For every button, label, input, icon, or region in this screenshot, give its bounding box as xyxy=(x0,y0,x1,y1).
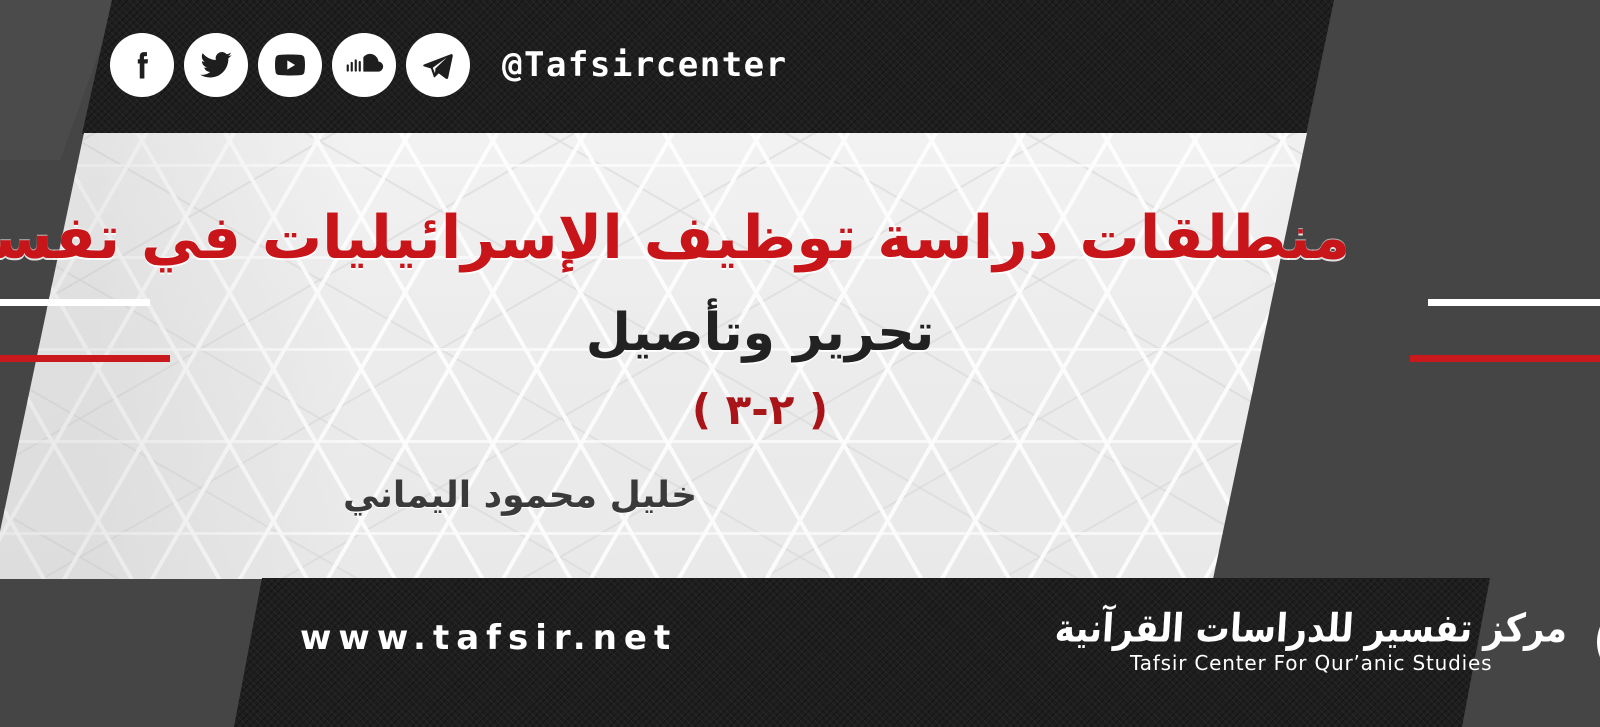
rule-white-right xyxy=(1428,299,1600,306)
website-url[interactable]: www.tafsir.net xyxy=(300,618,677,658)
banner-root: @Tafsircenter منطلقات دراسة توظيف الإسرا… xyxy=(0,0,1600,727)
soundcloud-icon[interactable] xyxy=(332,33,396,97)
brand-logo-text: مركز تفسير للدراسات القرآنية Tafsir Cent… xyxy=(1055,609,1567,675)
brand-logo-lockup: مركز تفسير للدراسات القرآنية Tafsir Cent… xyxy=(1055,586,1600,698)
telegram-icon[interactable] xyxy=(406,33,470,97)
social-bar: @Tafsircenter xyxy=(110,33,788,97)
rule-white-left xyxy=(0,299,150,306)
facebook-icon[interactable] xyxy=(110,33,174,97)
brand-name-english: Tafsir Center For Qur’anic Studies xyxy=(1130,651,1492,675)
rule-red-left xyxy=(0,355,170,362)
brand-name-arabic: مركز تفسير للدراسات القرآنية xyxy=(1054,606,1569,652)
youtube-icon[interactable] xyxy=(258,33,322,97)
globe-logo-icon xyxy=(1585,586,1600,698)
social-handle: @Tafsircenter xyxy=(502,45,788,85)
twitter-icon[interactable] xyxy=(184,33,248,97)
rule-red-right xyxy=(1410,355,1600,362)
